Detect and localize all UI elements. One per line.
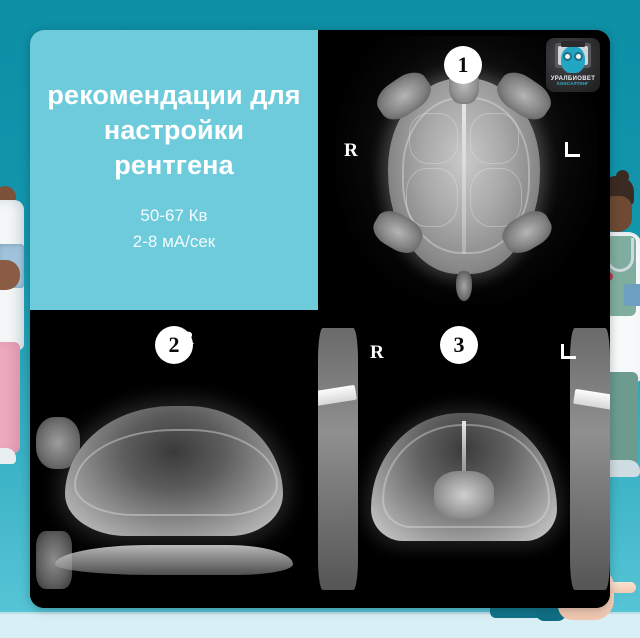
logo-name-secondary: КОНСАЛТИНГ	[551, 82, 596, 86]
panel-badge-1: 1	[444, 46, 482, 84]
xray-panel-lateral[interactable]: Я 2	[30, 310, 318, 608]
turtle-tail	[456, 271, 472, 301]
param-current: 2-8 мА/сек	[133, 229, 215, 255]
panel-badge-3: 3	[440, 326, 478, 364]
panel-badge-2: 2	[155, 326, 193, 364]
param-voltage: 50-67 Кв	[140, 203, 207, 229]
marker-l-bracket-icon	[561, 344, 576, 359]
marker-r-icon: Я	[344, 140, 358, 162]
marker-r-icon: Я	[370, 342, 384, 364]
page-title: рекомендации для настройки рентгена	[44, 78, 304, 183]
turtle-carapace-craniocaudal	[371, 413, 557, 541]
marker-l-bracket-icon	[565, 142, 580, 157]
owl-eye-right	[574, 52, 583, 61]
owl-icon	[561, 46, 585, 73]
owl-eyes	[563, 52, 583, 61]
turtle-spine-cc	[434, 471, 494, 519]
logo-text: УРАЛБИОВЕТ КОНСАЛТИНГ	[551, 76, 596, 87]
scute	[470, 168, 522, 227]
title-panel: рекомендации для настройки рентгена 50-6…	[30, 30, 318, 310]
scute	[406, 168, 458, 227]
vet-illustration-left	[0, 182, 34, 482]
vet-right-tablet	[624, 284, 640, 306]
xray-panel-dorsoventral[interactable]: Я 1 УРАЛБИОВЕТ КОНСАЛТИНГ	[318, 30, 610, 310]
stethoscope-icon	[606, 238, 634, 272]
turtle-limb-left-cc	[318, 328, 358, 590]
scute	[409, 113, 458, 164]
turtle-plastron-lateral	[55, 545, 293, 575]
vet-left-trousers	[0, 342, 20, 454]
xray-panel-craniocaudal[interactable]: Я 3	[318, 310, 610, 608]
content-card: рекомендации для настройки рентгена 50-6…	[30, 30, 610, 608]
monitor-icon	[555, 43, 591, 68]
scute	[470, 113, 519, 164]
turtle-limb-right-cc	[570, 328, 610, 590]
owl-eye-left	[563, 52, 572, 61]
brand-logo[interactable]: УРАЛБИОВЕТ КОНСАЛТИНГ	[546, 38, 600, 92]
graduation-cap-icon	[561, 41, 585, 47]
turtle-carapace-lateral	[65, 406, 283, 536]
